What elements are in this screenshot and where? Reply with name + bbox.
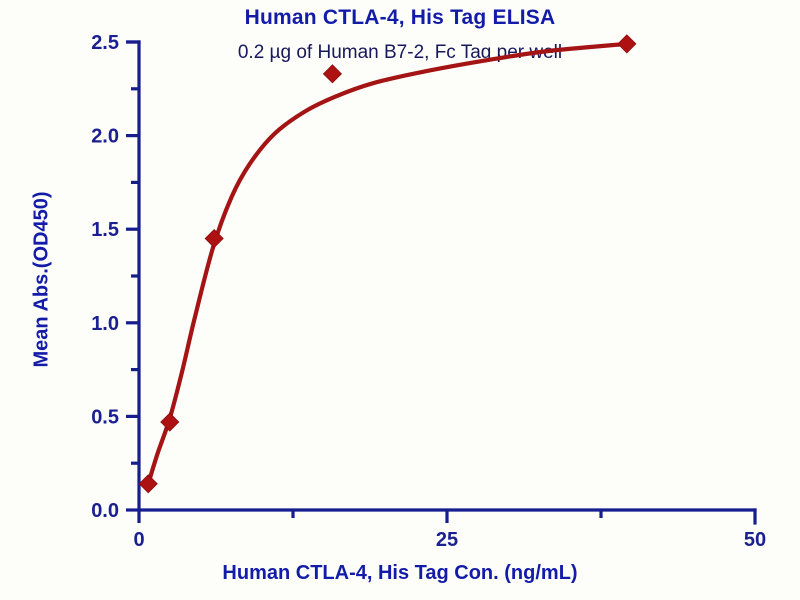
data-point-marker — [618, 35, 636, 53]
chart-page: Human CTLA-4, His Tag ELISA 0.2 µg of Hu… — [0, 0, 800, 600]
y-axis-ticks — [126, 42, 139, 510]
fit-curve — [148, 44, 627, 484]
y-tick-label: 1.0 — [91, 313, 119, 335]
plot-area: 0.00.51.01.52.02.5 02550 — [0, 0, 800, 600]
y-tick-label: 2.0 — [91, 126, 119, 148]
data-point-marker — [323, 65, 341, 83]
data-point-marker — [205, 230, 223, 248]
x-tick-label: 50 — [744, 529, 766, 551]
data-point-marker — [139, 475, 157, 493]
x-axis-tick-labels: 02550 — [133, 529, 766, 551]
y-tick-label: 0.5 — [91, 406, 119, 428]
data-point-marker — [161, 413, 179, 431]
y-tick-label: 0.0 — [91, 500, 119, 522]
x-axis-ticks — [139, 510, 601, 523]
y-axis-tick-labels: 0.00.51.01.52.02.5 — [91, 32, 119, 522]
x-tick-label: 0 — [133, 529, 144, 551]
data-markers — [139, 35, 636, 493]
x-tick-label: 25 — [436, 529, 458, 551]
y-tick-label: 2.5 — [91, 32, 119, 54]
y-tick-label: 1.5 — [91, 219, 119, 241]
axes — [128, 42, 755, 523]
